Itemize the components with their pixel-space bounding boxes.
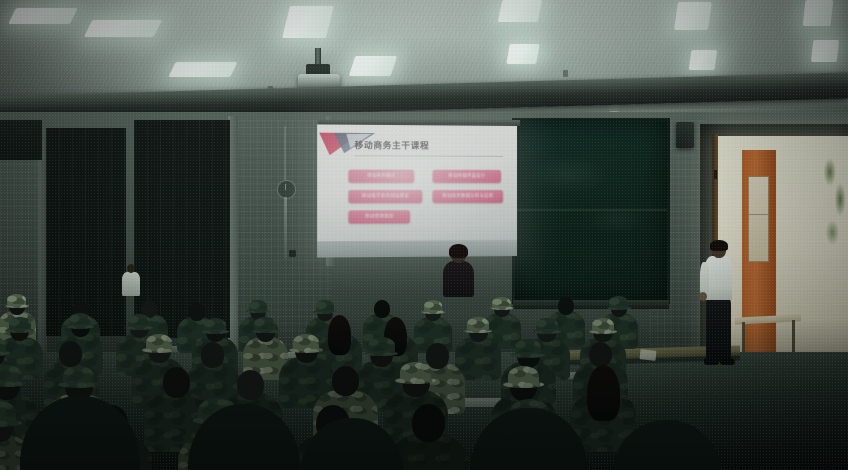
standing-man-shoe xyxy=(720,358,735,365)
ceiling-lamp xyxy=(506,44,540,64)
standing-man-shirt xyxy=(705,256,732,300)
audience-cap xyxy=(424,300,443,312)
audience-cap xyxy=(368,337,395,354)
door-window-panel xyxy=(748,176,769,262)
slide-title-underline xyxy=(355,155,503,157)
audience-long-hair xyxy=(328,315,351,355)
desk-leg xyxy=(792,320,795,354)
audience-head xyxy=(59,341,82,367)
audience-cap xyxy=(536,318,558,332)
slide-bullet-box: 移动商务概论 xyxy=(348,170,414,183)
audience-cap xyxy=(254,317,276,331)
slide-bullet-box: 移动电子商务网站建设 xyxy=(348,190,422,203)
screen-bottom-bar xyxy=(317,240,517,258)
ceiling-lamp xyxy=(282,6,334,38)
audience-cap xyxy=(293,334,320,351)
wall-panel-dark xyxy=(0,120,42,160)
slide-title: 移动商务主干课程 xyxy=(355,139,507,152)
ceiling-lamp xyxy=(168,62,237,77)
ceiling-lamp xyxy=(674,2,712,30)
projection-screen: 移动商务主干课程 移动商务概论移动终端界面设计移动电子商务网站建设移动商务数据分… xyxy=(317,124,517,257)
standing-man-hair xyxy=(710,240,728,251)
audience-cap xyxy=(400,362,432,382)
ceiling-lamp xyxy=(8,8,78,24)
ceiling-lamp xyxy=(498,0,543,22)
audience-head xyxy=(426,343,449,369)
audience-cap xyxy=(609,296,628,308)
audience-head xyxy=(332,366,359,396)
audience-cap xyxy=(69,313,91,327)
ceiling-lamp xyxy=(84,20,162,37)
audience-head xyxy=(558,297,574,315)
chalk-tray xyxy=(513,300,669,309)
audience-head xyxy=(589,342,612,368)
outdoor-foliage xyxy=(822,150,848,260)
audience-cap xyxy=(316,300,335,312)
audience-cap xyxy=(508,366,540,386)
screen-surface: 移动商务主干课程 移动商务概论移动终端界面设计移动电子商务网站建设移动商务数据分… xyxy=(317,124,517,257)
standing-man-trousers xyxy=(706,298,731,362)
audience-head xyxy=(163,367,190,397)
audience-cap xyxy=(63,366,95,386)
chalkboard-smudges xyxy=(515,121,667,301)
chalkboard xyxy=(512,118,670,304)
audience-head xyxy=(189,303,205,321)
chalkboard-divider xyxy=(515,209,667,211)
door-leaf[interactable] xyxy=(742,150,776,360)
audience-cap xyxy=(467,317,489,331)
audience-long-hair xyxy=(587,365,620,421)
standing-man-shoe xyxy=(704,358,719,365)
audience-cap xyxy=(249,300,268,312)
person-far-left-head xyxy=(127,264,135,273)
standing-man-hand xyxy=(699,292,707,301)
presenter-hair xyxy=(449,244,468,258)
audience-cap xyxy=(492,297,511,309)
audience-head xyxy=(412,404,446,442)
audience-cap xyxy=(0,365,22,385)
standing-man-arm xyxy=(700,262,709,296)
audience-cap xyxy=(146,334,173,351)
wall-outlet-icon xyxy=(289,250,296,257)
audience-cap xyxy=(515,339,542,356)
audience-cap xyxy=(128,314,150,328)
audience-cap xyxy=(204,318,226,332)
ceiling-lamp xyxy=(811,40,839,62)
audience-head xyxy=(237,370,264,400)
handout-paper xyxy=(640,349,657,361)
person-far-left xyxy=(122,272,140,296)
wall-speaker-icon xyxy=(676,122,694,148)
sprinkler-icon xyxy=(563,70,568,77)
ceiling-lamp xyxy=(803,0,834,26)
audience-head xyxy=(374,300,390,318)
audience-head xyxy=(201,342,224,368)
wall-conduit xyxy=(284,126,286,180)
slide-bullet-box: 移动终端界面设计 xyxy=(432,170,501,183)
slide-bullet-box: 移动商务数据分析与应用 xyxy=(432,190,503,203)
ceiling-lamp xyxy=(349,56,397,76)
ceiling-lamp xyxy=(689,50,718,70)
slide-bullet-box: 移动营销策划 xyxy=(348,210,410,223)
presenter-body xyxy=(443,261,474,297)
audience-cap xyxy=(9,317,31,331)
audience-cap xyxy=(7,294,26,306)
audience-cap xyxy=(592,318,614,332)
photograph: 移动商务主干课程 移动商务概论移动终端界面设计移动电子商务网站建设移动商务数据分… xyxy=(0,0,848,470)
clock-conduit xyxy=(284,197,287,259)
door-hinge-icon xyxy=(714,170,717,179)
